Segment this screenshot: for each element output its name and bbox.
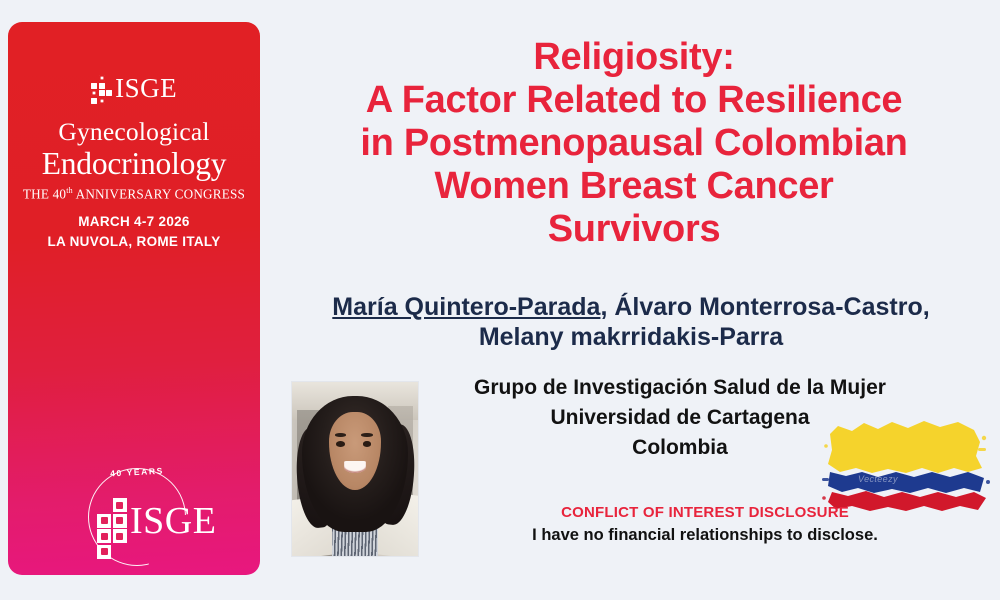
congress-title-line2: Endocrinology (8, 147, 260, 181)
title-line-1: Religiosity: (278, 36, 990, 79)
flag-band-blue (828, 472, 984, 493)
conflict-of-interest-disclosure: CONFLICT OF INTEREST DISCLOSURE I have n… (460, 503, 950, 546)
congress-venue: LA NUVOLA, ROME ITALY (8, 232, 260, 252)
title-line-4: Women Breast Cancer (278, 165, 990, 208)
isge-logo-text: ISGE (115, 75, 177, 102)
page-title: Religiosity: A Factor Related to Resilie… (278, 36, 990, 251)
congress-title-line1: Gynecological (8, 118, 260, 147)
author-line-1-rest: , Álvaro Monterrosa-Castro, (600, 293, 929, 321)
title-line-3: in Postmenopausal Colombian (278, 122, 990, 165)
seal-isge-text: ISGE (130, 502, 216, 540)
affiliation-line-1: Grupo de Investigación Salud de la Mujer (400, 373, 960, 403)
presenting-author: María Quintero-Parada (332, 293, 600, 321)
congress-date: MARCH 4-7 2026 (8, 212, 260, 232)
congress-anniversary-line: THE 40th ANNIVERSARY CONGRESS (8, 186, 260, 202)
disclosure-heading: CONFLICT OF INTEREST DISCLOSURE (460, 503, 950, 523)
photo-eyebrow-left (335, 433, 346, 436)
flag-band-yellow (828, 421, 982, 473)
congress-title: Gynecological Endocrinology THE 40th ANN… (8, 118, 260, 202)
author-line-2: Melany makrridakis-Parra (268, 322, 994, 352)
congress-dates: MARCH 4-7 2026 LA NUVOLA, ROME ITALY (8, 212, 260, 251)
isge-grid-icon (91, 75, 112, 104)
presenter-portrait-photo (292, 382, 418, 556)
seal-grid-icon (97, 498, 127, 559)
author-list: María Quintero-Parada, Álvaro Monterrosa… (268, 292, 994, 352)
congress-banner: ISGE Gynecological Endocrinology THE 40t… (8, 22, 260, 575)
isge-logo: ISGE (8, 74, 260, 103)
anniversary-seal: 40 YEARS ISGE (64, 462, 214, 570)
photo-eye-right (363, 441, 372, 447)
title-line-2: A Factor Related to Resilience (278, 79, 990, 122)
photo-eye-left (336, 441, 345, 447)
author-line-1: María Quintero-Parada, Álvaro Monterrosa… (268, 292, 994, 322)
disclosure-body: I have no financial relationships to dis… (460, 525, 950, 546)
title-line-5: Survivors (278, 208, 990, 251)
photo-eyebrow-right (361, 433, 372, 436)
